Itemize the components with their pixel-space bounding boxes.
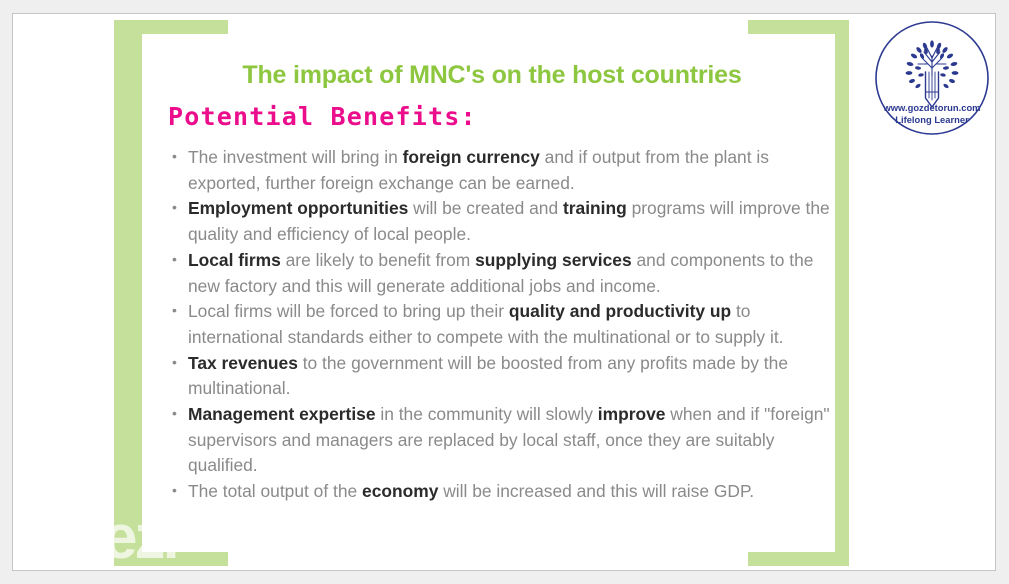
list-item-text: are likely to benefit from (281, 250, 475, 270)
list-item-text: The investment will bring in (188, 147, 403, 167)
benefits-list: The investment will bring in foreign cur… (142, 131, 842, 505)
list-item: Employment opportunities will be created… (172, 196, 842, 247)
list-item: Local firms will be forced to bring up t… (172, 299, 842, 350)
page-title: The impact of MNC's on the host countrie… (142, 34, 842, 90)
list-item-emphasis: training (563, 198, 627, 218)
site-logo: www.gozdetorun.com Lifelong Learner (874, 20, 990, 136)
list-item-text: Local firms will be forced to bring up t… (188, 301, 509, 321)
list-item-text: in the community will slowly (376, 404, 598, 424)
list-item-emphasis: Tax revenues (188, 353, 298, 373)
list-item: Tax revenues to the government will be b… (172, 351, 842, 402)
list-item-emphasis: Local firms (188, 250, 281, 270)
list-item-emphasis: economy (362, 481, 438, 501)
list-item-text: The total output of the (188, 481, 362, 501)
logo-svg: www.gozdetorun.com Lifelong Learner (874, 20, 990, 136)
list-item: Management expertise in the community wi… (172, 402, 842, 479)
list-item-text: will be increased and this will raise GD… (438, 481, 754, 501)
list-item: The investment will bring in foreign cur… (172, 145, 842, 196)
list-item: The total output of the economy will be … (172, 479, 842, 505)
list-item-emphasis: Employment opportunities (188, 198, 408, 218)
list-item-emphasis: foreign currency (403, 147, 540, 167)
slide-content: The impact of MNC's on the host countrie… (142, 34, 842, 554)
slide-panel: ezi The impact of MNC's on the host coun… (12, 13, 996, 571)
list-item-emphasis: supplying services (475, 250, 632, 270)
section-subheading: Potential Benefits: (142, 90, 842, 131)
logo-url-text: www.gozdetorun.com (882, 102, 980, 113)
logo-tagline-text: Lifelong Learner (895, 114, 969, 125)
decorative-frame-left (114, 20, 142, 566)
list-item-emphasis: improve (598, 404, 666, 424)
list-item-emphasis: quality and productivity up (509, 301, 731, 321)
list-item-emphasis: Management expertise (188, 404, 376, 424)
list-item: Local firms are likely to benefit from s… (172, 248, 842, 299)
list-item-text: will be created and (408, 198, 563, 218)
